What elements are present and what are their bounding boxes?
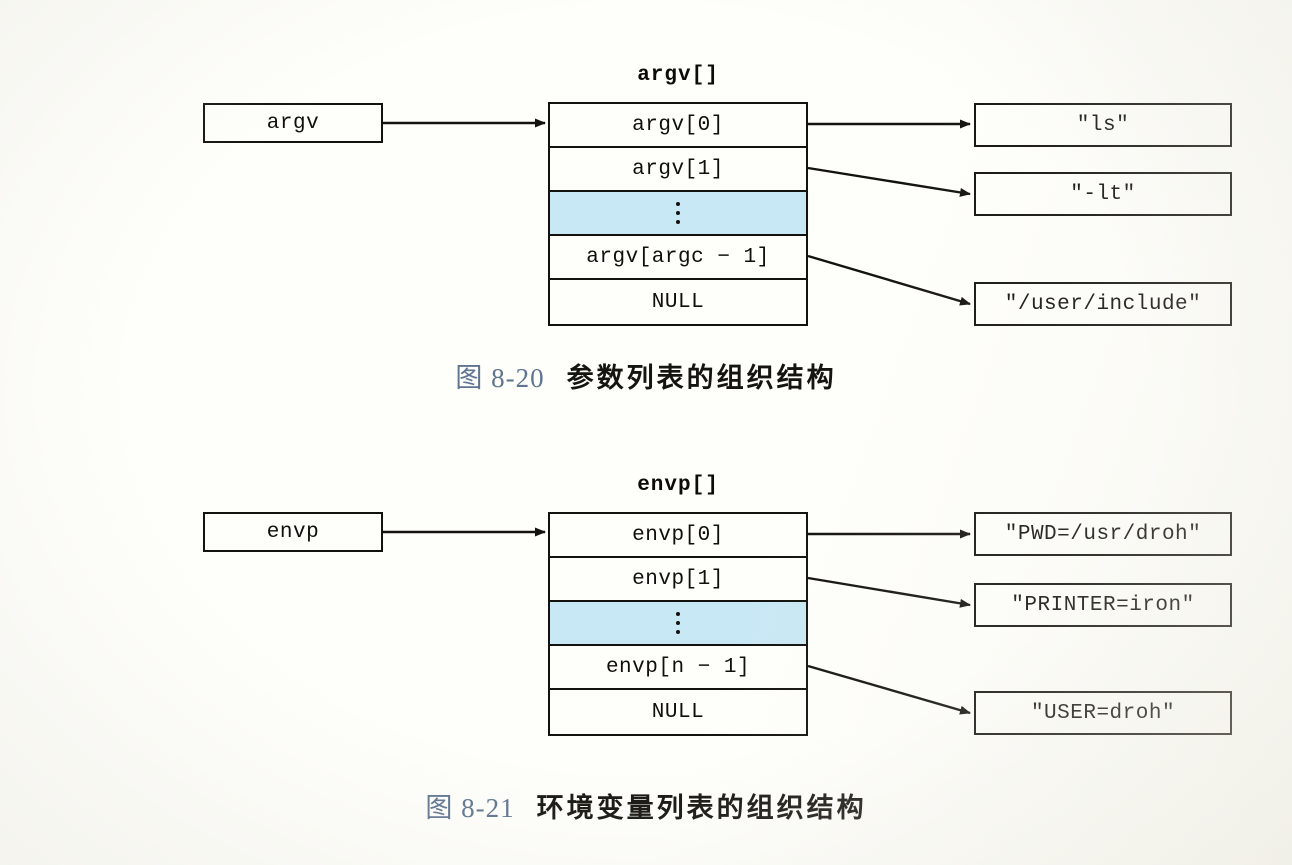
array-envp: envp[0] envp[1] envp[n − 1] NULL <box>548 512 808 736</box>
array-cell-ellipsis <box>550 602 806 646</box>
pointer-box-envp: envp <box>203 512 383 552</box>
vertical-dots-icon <box>676 621 680 625</box>
figure-caption-envp: 图 8-21环境变量列表的组织结构 <box>0 786 1292 825</box>
string-box: "USER=droh" <box>974 691 1232 735</box>
figure-caption-text: 环境变量列表的组织结构 <box>537 793 867 823</box>
array-title-envp: envp[] <box>548 474 808 497</box>
array-cell: envp[n − 1] <box>550 646 806 690</box>
figure-number: 图 8-21 <box>425 793 514 823</box>
string-box: "PWD=/usr/droh" <box>974 512 1232 556</box>
figure-envp: envp[] envp envp[0] envp[1] envp[n − 1] … <box>0 0 1292 865</box>
string-box: "PRINTER=iron" <box>974 583 1232 627</box>
figure-page: argv[] argv argv[0] argv[1] argv[argc − … <box>0 0 1292 865</box>
array-cell-null: NULL <box>550 690 806 734</box>
array-cell: envp[0] <box>550 514 806 558</box>
array-cell: envp[1] <box>550 558 806 602</box>
